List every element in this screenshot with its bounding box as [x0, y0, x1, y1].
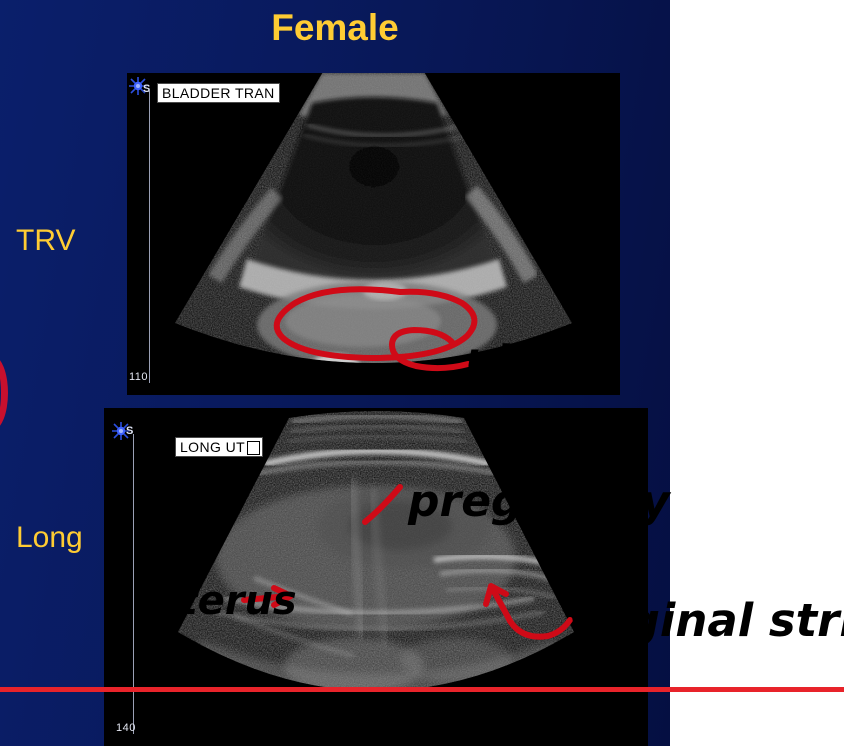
view-label-transverse: TRV: [16, 224, 75, 258]
ultrasound-scan-transverse: [127, 73, 620, 395]
ultrasound-scan-longitudinal: [104, 408, 648, 746]
slide-canvas: Female TRV Long: [0, 0, 844, 746]
red-underline-rule: [0, 687, 844, 692]
depth-scale-line-transverse: [149, 89, 150, 383]
ultrasound-image-transverse: S 110 BLADDER TRAN: [127, 73, 620, 395]
text-entry-caret: [247, 441, 260, 455]
view-label-longitudinal: Long: [16, 521, 83, 555]
scan-label-transverse: BLADDER TRAN: [157, 83, 280, 103]
scan-label-longitudinal-text: LONG UT: [180, 439, 245, 455]
depth-value-longitudinal: 140: [116, 722, 136, 734]
depth-value-transverse: 110: [129, 371, 148, 383]
scan-label-longitudinal: LONG UT: [175, 437, 263, 457]
ultrasound-image-longitudinal: S 140 LONG UT: [104, 408, 648, 746]
page-title: Female: [0, 6, 670, 50]
